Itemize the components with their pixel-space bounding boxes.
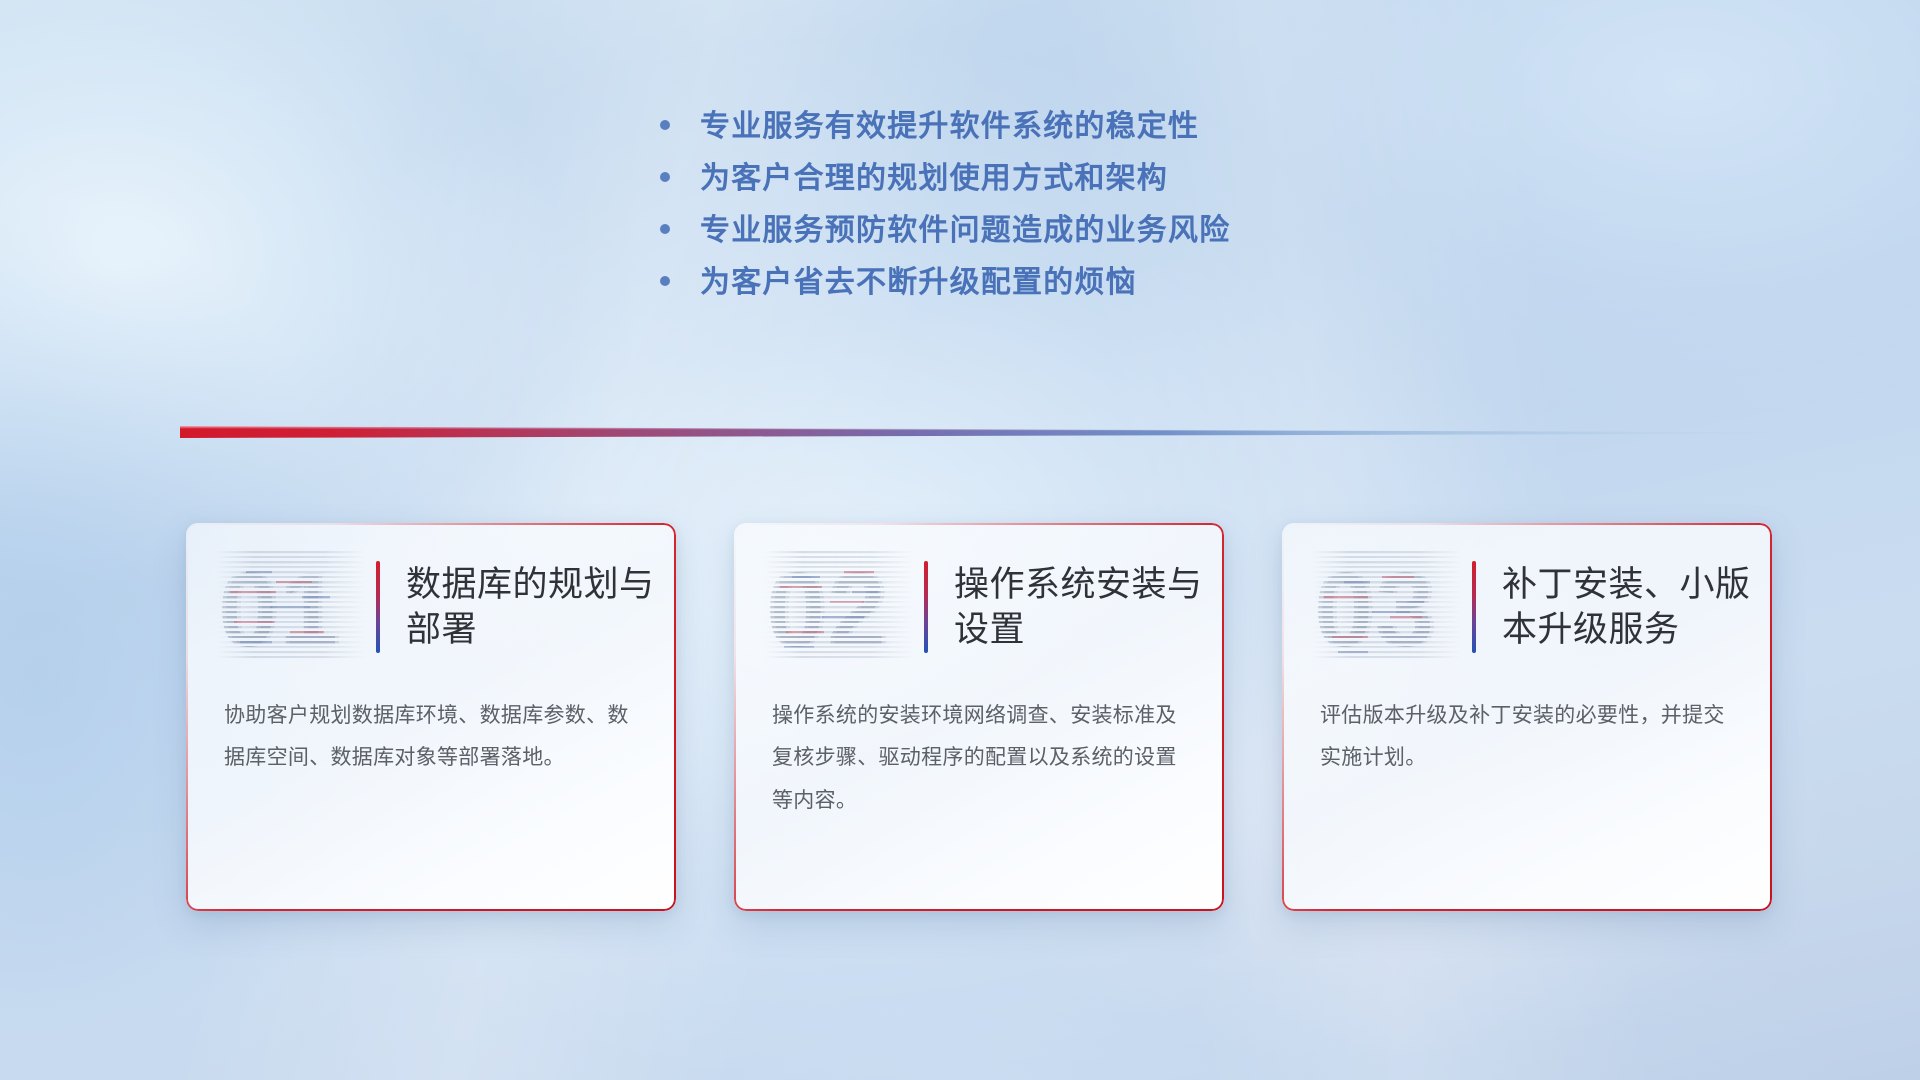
card-title-rule <box>376 561 380 653</box>
card-header: 02 02 <box>734 523 1224 691</box>
card-number-glyph-icon: 01 01 <box>216 547 366 667</box>
bullet-dot-icon <box>660 120 670 130</box>
list-item: 为客户合理的规划使用方式和架构 <box>660 164 1230 194</box>
card-title: 操作系统安装与设置 <box>954 562 1219 653</box>
list-item: 为客户省去不断升级配置的烦恼 <box>660 268 1230 298</box>
card-number-glyph-icon: 02 02 <box>764 547 914 667</box>
card-number-02-glitch: 02 02 <box>764 547 914 667</box>
service-card-grid: 01 01 <box>186 523 1772 911</box>
section-divider <box>180 424 1820 442</box>
card-header: 01 01 <box>186 523 676 691</box>
service-card-02[interactable]: 02 02 <box>734 523 1224 911</box>
card-description: 协助客户规划数据库环境、数据库参数、数据库空间、数据库对象等部署落地。 <box>186 691 676 780</box>
card-title-rule <box>924 561 928 653</box>
bullet-text: 为客户合理的规划使用方式和架构 <box>700 164 1168 194</box>
service-card-01[interactable]: 01 01 <box>186 523 676 911</box>
card-number-03-glitch: 03 03 <box>1312 547 1462 667</box>
card-description: 评估版本升级及补丁安装的必要性，并提交实施计划。 <box>1282 691 1772 780</box>
list-item: 专业服务有效提升软件系统的稳定性 <box>660 112 1230 142</box>
divider-wedge-icon <box>180 424 1820 442</box>
card-number-glyph-icon: 03 03 <box>1312 547 1462 667</box>
bullet-text: 为客户省去不断升级配置的烦恼 <box>700 268 1137 298</box>
bullet-dot-icon <box>660 172 670 182</box>
card-title: 补丁安装、小版本升级服务 <box>1502 562 1767 653</box>
list-item: 专业服务预防软件问题造成的业务风险 <box>660 216 1230 246</box>
bullet-text: 专业服务有效提升软件系统的稳定性 <box>700 112 1199 142</box>
service-card-03[interactable]: 03 03 <box>1282 523 1772 911</box>
card-header: 03 03 <box>1282 523 1772 691</box>
card-title: 数据库的规划与部署 <box>406 562 671 653</box>
bullet-dot-icon <box>660 276 670 286</box>
card-description: 操作系统的安装环境网络调查、安装标准及复核步骤、驱动程序的配置以及系统的设置等内… <box>734 691 1224 822</box>
bullet-text: 专业服务预防软件问题造成的业务风险 <box>700 216 1230 246</box>
card-title-rule <box>1472 561 1476 653</box>
bullet-dot-icon <box>660 224 670 234</box>
benefits-bullet-list: 专业服务有效提升软件系统的稳定性 为客户合理的规划使用方式和架构 专业服务预防软… <box>660 112 1230 298</box>
card-number-01-glitch: 01 01 <box>216 547 366 667</box>
